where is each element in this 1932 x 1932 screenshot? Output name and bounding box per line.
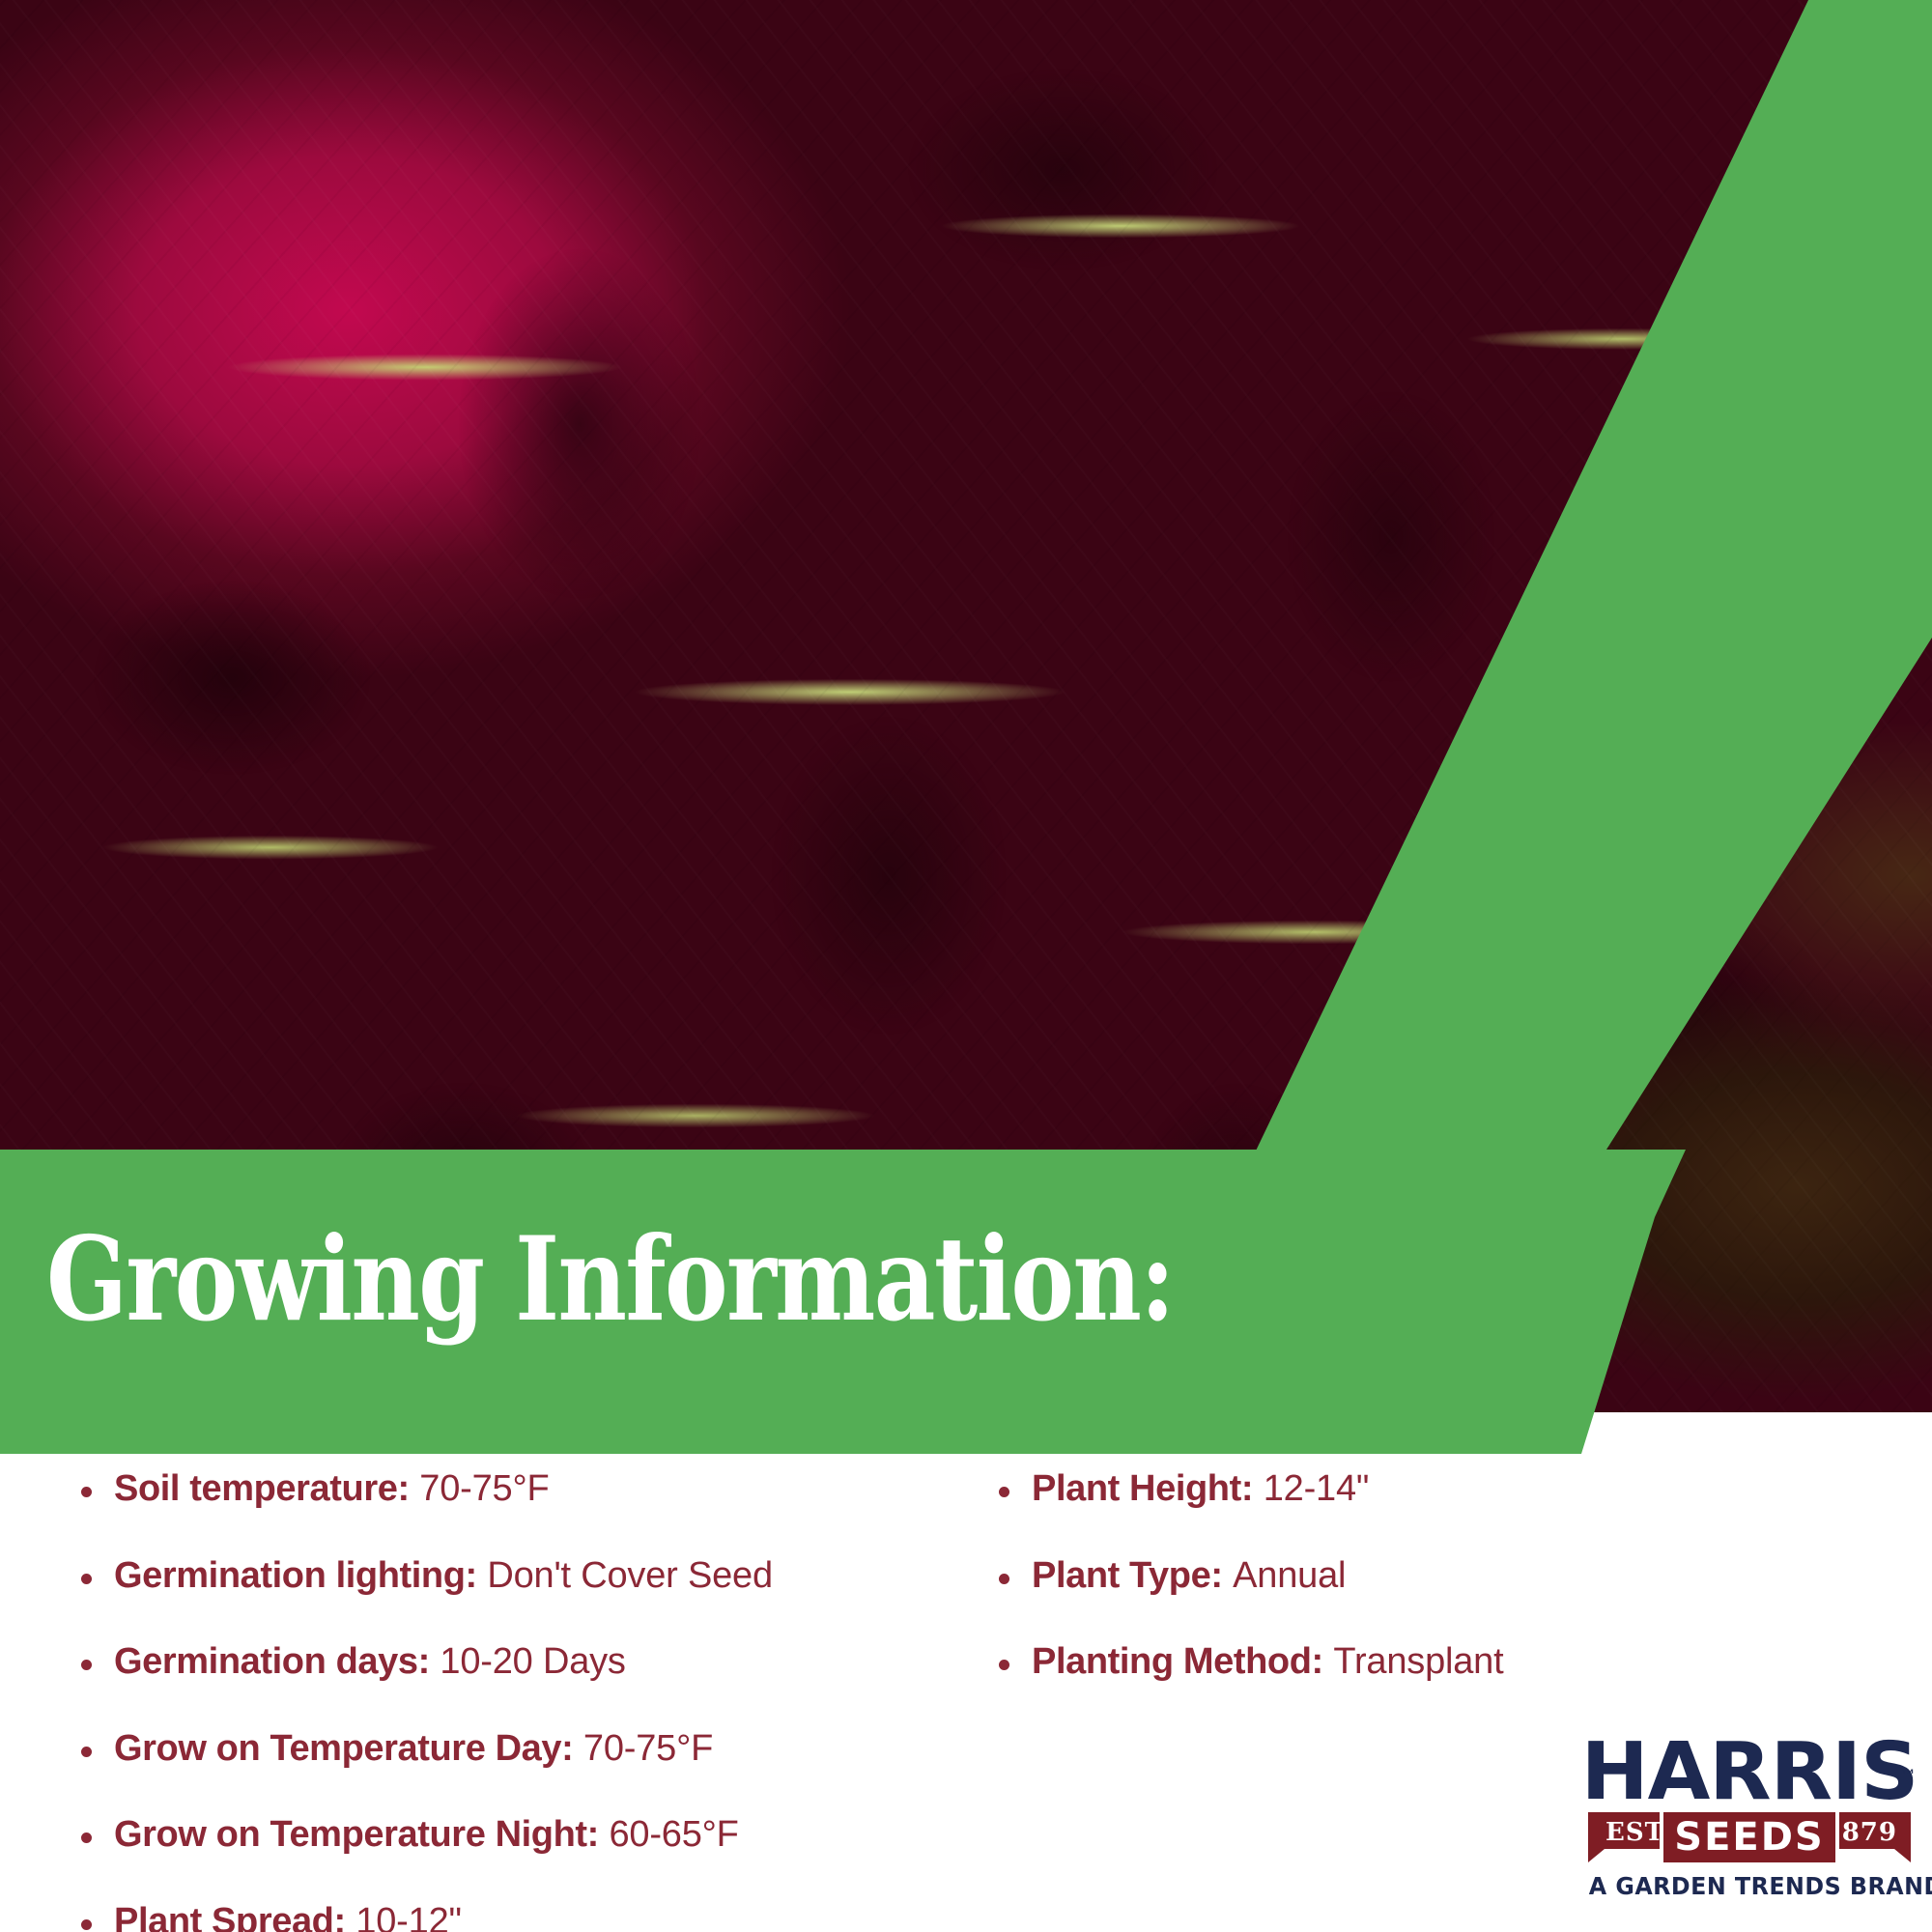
spec-value: 70-75°F: [419, 1468, 549, 1509]
spec-value: Annual: [1233, 1555, 1346, 1596]
list-item: Germination days: 10-20 Days: [68, 1641, 937, 1683]
list-item: Grow on Temperature Night: 60-65°F: [68, 1814, 937, 1856]
logo-seeds-text: SEEDS: [1674, 1818, 1824, 1857]
logo-tagline: A GARDEN TRENDS BRAND: [1589, 1872, 1911, 1900]
spec-label: Soil temperature:: [114, 1468, 410, 1509]
spec-list-right: Plant Height: 12-14" Plant Type: Annual …: [985, 1468, 1662, 1683]
list-item: Germination lighting: Don't Cover Seed: [68, 1555, 937, 1597]
logo-est-text: EST: [1605, 1818, 1664, 1847]
list-item: Soil temperature: 70-75°F: [68, 1468, 937, 1510]
list-item: Plant Height: 12-14": [985, 1468, 1662, 1510]
spec-value: 60-65°F: [609, 1814, 738, 1855]
spec-value: 12-14": [1264, 1468, 1369, 1509]
harris-seeds-logo: HARRIS ™ EST 1879 SEEDS A GARDEN TRENDS …: [1580, 1731, 1918, 1920]
list-item: Plant Spread: 10-12": [68, 1901, 937, 1932]
spec-label: Plant Spread:: [114, 1901, 346, 1932]
list-item: Planting Method: Transplant: [985, 1641, 1662, 1683]
spec-value: 10-20 Days: [440, 1641, 625, 1682]
spec-value: 70-75°F: [583, 1728, 713, 1769]
spec-value: 10-12": [355, 1901, 461, 1932]
spec-label: Grow on Temperature Night:: [114, 1814, 599, 1855]
trademark-icon: ™: [1901, 1766, 1915, 1781]
spec-value: Don't Cover Seed: [487, 1555, 773, 1596]
spec-column-left: Soil temperature: 70-75°F Germination li…: [68, 1468, 937, 1932]
page-title: Growing Information:: [46, 1222, 1174, 1338]
spec-label: Germination days:: [114, 1641, 430, 1682]
spec-label: Grow on Temperature Day:: [114, 1728, 573, 1769]
list-item: Plant Type: Annual: [985, 1555, 1662, 1597]
list-item: Grow on Temperature Day: 70-75°F: [68, 1728, 937, 1770]
spec-label: Germination lighting:: [114, 1555, 477, 1596]
spec-value: Transplant: [1333, 1641, 1503, 1682]
spec-label: Plant Height:: [1032, 1468, 1253, 1509]
spec-label: Plant Type:: [1032, 1555, 1223, 1596]
spec-column-right: Plant Height: 12-14" Plant Type: Annual …: [985, 1468, 1662, 1728]
spec-label: Planting Method:: [1032, 1641, 1323, 1682]
spec-list-left: Soil temperature: 70-75°F Germination li…: [68, 1468, 937, 1932]
logo-brand-text: HARRIS: [1577, 1733, 1922, 1812]
infographic-page: Growing Information: Soil temperature: 7…: [0, 0, 1932, 1932]
logo-seeds-box: SEEDS: [1660, 1808, 1839, 1866]
